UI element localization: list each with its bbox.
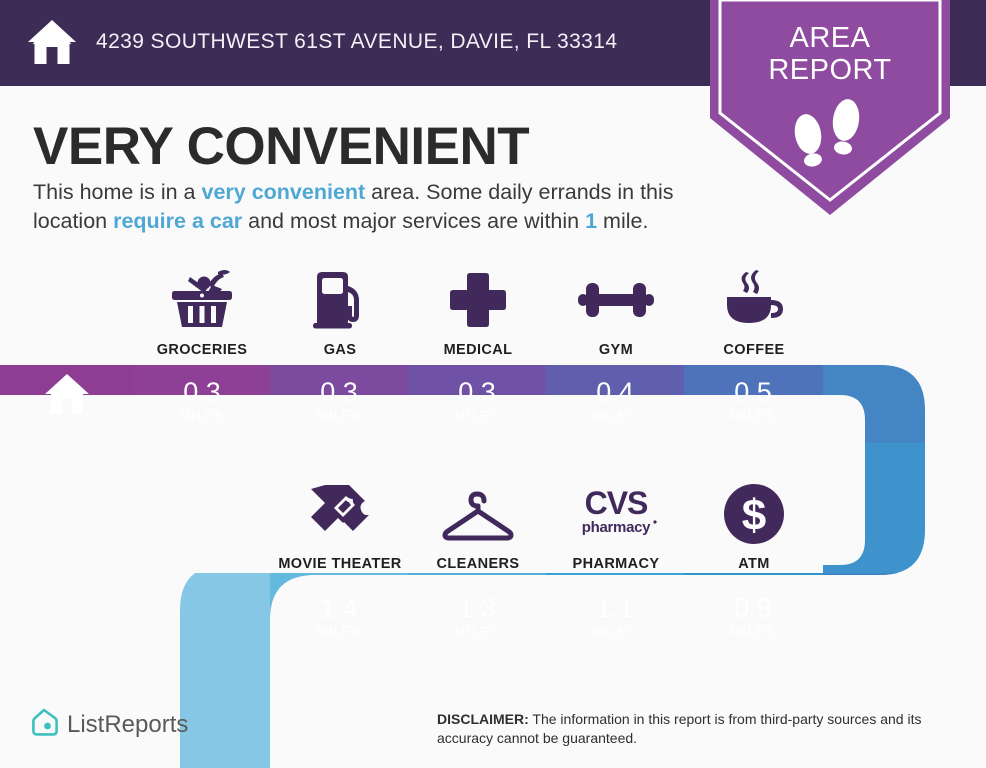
summary-paragraph: This home is in a very convenient area. … bbox=[33, 178, 703, 236]
distance-unit: MILES bbox=[546, 408, 684, 423]
distance-atm: 0.9 MILES bbox=[684, 593, 822, 639]
amenity-gym: GYM bbox=[547, 258, 685, 358]
summary-highlight: require a car bbox=[113, 209, 242, 233]
distance-unit: MILES bbox=[133, 408, 271, 423]
logo-text: ListReports bbox=[67, 711, 188, 739]
badge-line-2: REPORT bbox=[710, 54, 950, 86]
distance-unit: MILES bbox=[408, 408, 546, 423]
property-address: 4239 SOUTHWEST 61ST AVENUE, DAVIE, FL 33… bbox=[96, 30, 617, 54]
distance-value: 1.4 bbox=[270, 593, 408, 623]
distance-gym: 0.4 MILES bbox=[546, 377, 684, 423]
listreports-house-icon bbox=[30, 707, 58, 742]
disclaimer-label: DISCLAIMER: bbox=[437, 711, 529, 727]
home-marker bbox=[0, 372, 133, 421]
distance-unit: MILES bbox=[684, 408, 822, 423]
area-report-badge: AREA REPORT bbox=[710, 0, 950, 215]
distance-value: 1.3 bbox=[408, 593, 546, 623]
home-icon bbox=[44, 372, 90, 421]
coffee-cup-icon bbox=[721, 267, 787, 333]
gas-pump-icon bbox=[311, 267, 369, 333]
distance-medical: 0.3 MILES bbox=[408, 377, 546, 423]
summary-text: and most major services are within bbox=[242, 209, 585, 233]
distance-value: 0.3 bbox=[408, 377, 546, 407]
dumbbell-icon bbox=[578, 267, 654, 333]
amenity-gas: GAS bbox=[271, 258, 409, 358]
distance-groceries: 0.3 MILES bbox=[133, 377, 271, 423]
summary-highlight: very convenient bbox=[201, 180, 365, 204]
grocery-basket-icon bbox=[168, 267, 236, 333]
distance-value: 1.1 bbox=[546, 593, 684, 623]
distance-gas: 0.3 MILES bbox=[270, 377, 408, 423]
distance-coffee: 0.5 MILES bbox=[684, 377, 822, 423]
medical-cross-icon bbox=[448, 267, 508, 333]
distance-value: 0.5 bbox=[684, 377, 822, 407]
distance-unit: MILES bbox=[684, 624, 822, 639]
distance-value: 0.9 bbox=[684, 593, 822, 623]
header-content: 4239 SOUTHWEST 61ST AVENUE, DAVIE, FL 33… bbox=[26, 16, 617, 68]
page-title: VERY CONVENIENT bbox=[33, 116, 529, 177]
amenity-coffee: COFFEE bbox=[685, 258, 823, 358]
amenity-groceries: GROCERIES bbox=[133, 258, 271, 358]
distance-cleaners: 1.3 MILES bbox=[408, 593, 546, 639]
distance-movie-theater: 1.4 MILES bbox=[270, 593, 408, 639]
badge-line-1: AREA bbox=[710, 22, 950, 54]
distance-unit: MILES bbox=[270, 624, 408, 639]
summary-highlight: 1 bbox=[585, 209, 597, 233]
summary-text: This home is in a bbox=[33, 180, 201, 204]
distance-value: 0.4 bbox=[546, 377, 684, 407]
disclaimer: DISCLAIMER: The information in this repo… bbox=[437, 710, 977, 748]
distance-unit: MILES bbox=[546, 624, 684, 639]
area-report-page: 4239 SOUTHWEST 61ST AVENUE, DAVIE, FL 33… bbox=[0, 0, 986, 768]
distance-unit: MILES bbox=[270, 408, 408, 423]
amenity-medical: MEDICAL bbox=[409, 258, 547, 358]
amenities-row-1: GROCERIES GAS MED bbox=[0, 258, 986, 358]
distance-value: 0.3 bbox=[133, 377, 271, 407]
distance-unit: MILES bbox=[408, 624, 546, 639]
distance-value: 0.3 bbox=[270, 377, 408, 407]
home-icon bbox=[26, 16, 78, 68]
summary-text: mile. bbox=[597, 209, 648, 233]
listreports-logo: ListReports bbox=[30, 707, 188, 742]
badge-text: AREA REPORT bbox=[710, 22, 950, 86]
distance-pharmacy: 1.1 MILES bbox=[546, 593, 684, 639]
